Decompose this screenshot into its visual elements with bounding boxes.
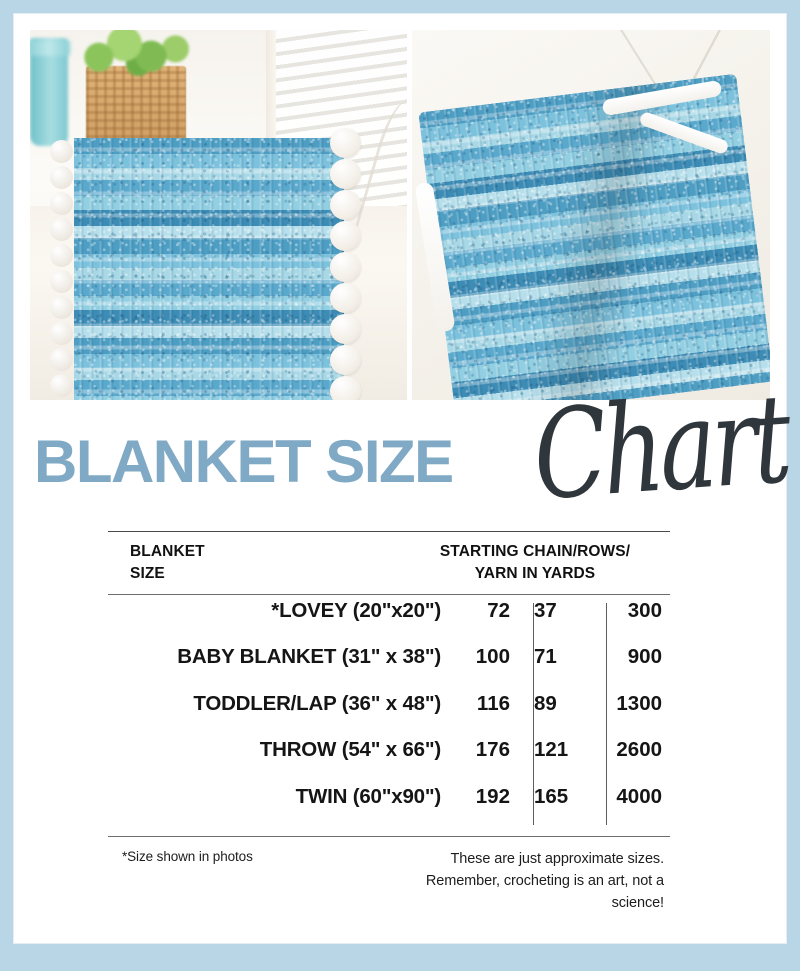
page-title: BLANKET SIZE Chart xyxy=(14,418,786,538)
cell-size: TODDLER/LAP (36" x 48") xyxy=(108,692,453,716)
cell-chain: 192 xyxy=(453,785,521,809)
teal-vase xyxy=(30,38,68,146)
wooden-bead-garland xyxy=(330,128,362,400)
column-divider-1 xyxy=(533,603,534,826)
header-line-1: STARTING CHAIN/ROWS/ xyxy=(400,541,670,563)
cell-size: BABY BLANKET (31" x 38") xyxy=(108,645,453,669)
header-line-2: YARN IN YARDS xyxy=(400,563,670,585)
blanket-size-table: BLANKET SIZE STARTING CHAIN/ROWS/ YARN I… xyxy=(108,531,670,915)
column-divider-2 xyxy=(606,603,607,826)
cell-rows: 37 xyxy=(521,599,594,623)
poster-page: BLANKET SIZE Chart BLANKET SIZE STARTING… xyxy=(14,14,786,943)
title-main-text: BLANKET SIZE xyxy=(34,432,453,492)
cell-size: *LOVEY (20"x20") xyxy=(108,599,453,623)
table-body: *LOVEY (20"x20") 72 37 300 BABY BLANKET … xyxy=(108,595,670,832)
cell-chain: 100 xyxy=(453,645,521,669)
photo-blanket-flat-on-bench xyxy=(30,30,407,400)
cell-rows: 121 xyxy=(521,738,594,762)
column-header-chain-rows-yarn: STARTING CHAIN/ROWS/ YARN IN YARDS xyxy=(400,541,670,586)
table-row: THROW (54" x 66") 176 121 2600 xyxy=(108,738,670,785)
cell-chain: 176 xyxy=(453,738,521,762)
cell-rows: 165 xyxy=(521,785,594,809)
title-script-text: Chart xyxy=(530,377,791,517)
cell-rows: 71 xyxy=(521,645,594,669)
column-header-blanket-size: BLANKET SIZE xyxy=(108,541,400,586)
plant-foliage xyxy=(78,30,194,78)
cell-size: TWIN (60"x90") xyxy=(108,785,453,809)
footnote-approximate: These are just approximate sizes. Rememb… xyxy=(408,849,670,914)
footnote-line-1: These are just approximate sizes. xyxy=(408,849,664,871)
pompom-trim xyxy=(50,140,78,400)
header-line-1: BLANKET xyxy=(130,541,400,563)
cell-chain: 72 xyxy=(453,599,521,623)
cell-rows: 89 xyxy=(521,692,594,716)
footnote-size-shown: *Size shown in photos xyxy=(108,849,408,864)
table-row: TWIN (60"x90") 192 165 4000 xyxy=(108,785,670,832)
woven-basket xyxy=(86,66,186,146)
photo-band xyxy=(30,30,770,400)
table-row: *LOVEY (20"x20") 72 37 300 xyxy=(108,599,670,646)
footnote-line-2: Remember, crocheting is an art, not a sc… xyxy=(408,871,664,915)
header-line-2: SIZE xyxy=(130,563,400,585)
table-footnotes: *Size shown in photos These are just app… xyxy=(108,837,670,914)
cell-chain: 116 xyxy=(453,692,521,716)
table-row: TODDLER/LAP (36" x 48") 116 89 1300 xyxy=(108,692,670,739)
blanket-crochet-texture xyxy=(74,138,344,400)
photo-blanket-draped-closeup xyxy=(412,30,770,400)
cell-size: THROW (54" x 66") xyxy=(108,738,453,762)
table-header-row: BLANKET SIZE STARTING CHAIN/ROWS/ YARN I… xyxy=(108,532,670,594)
table-row: BABY BLANKET (31" x 38") 100 71 900 xyxy=(108,645,670,692)
blanket-crochet-texture xyxy=(418,74,770,400)
